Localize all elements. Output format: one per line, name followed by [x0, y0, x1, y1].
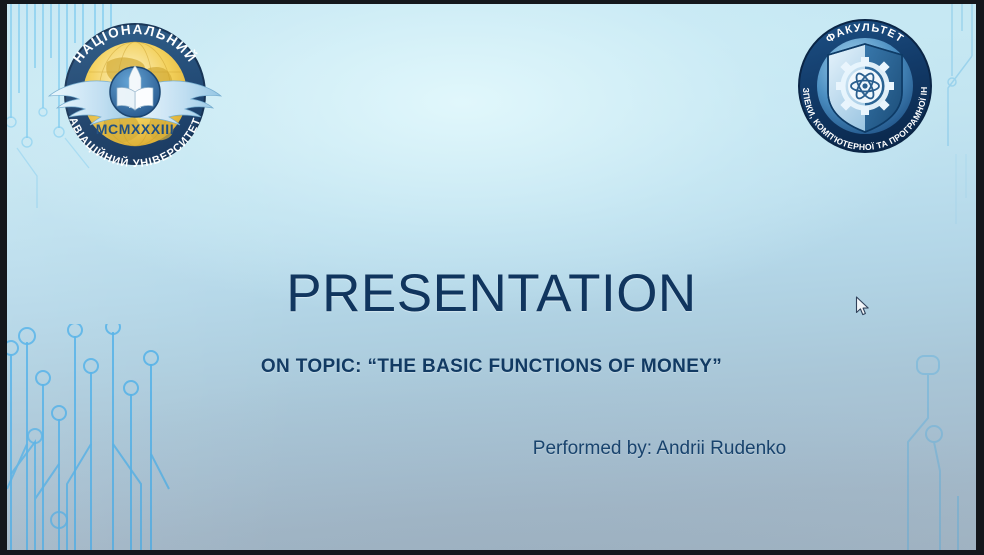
slide-canvas: НАЦІОНАЛЬНИЙ АВІАЦІЙНИЙ УНІВЕРСИТЕТ MCMX… [7, 4, 976, 550]
national-aviation-university-logo: НАЦІОНАЛЬНИЙ АВІАЦІЙНИЙ УНІВЕРСИТЕТ MCMX… [45, 16, 225, 168]
faculty-of-cybersecurity-logo: ФАКУЛЬТЕТ КІБЕРБЕЗПЕКИ, КОМП'ЮТЕРНОЇ ТА … [784, 10, 946, 162]
presentation-slide: НАЦІОНАЛЬНИЙ АВІАЦІЙНИЙ УНІВЕРСИТЕТ MCMX… [0, 0, 984, 555]
author-line: Performed by: Andrii Rudenko [7, 438, 976, 460]
page-title: PRESENTATION [7, 266, 976, 322]
slide-subtitle: ON TOPIC: “THE BASIC FUNCTIONS OF MONEY” [7, 356, 976, 378]
slide-title-block: PRESENTATION ON TOPIC: “THE BASIC FUNCTI… [7, 266, 976, 378]
nau-logo-year-roman: MCMXXXIII [96, 121, 175, 137]
